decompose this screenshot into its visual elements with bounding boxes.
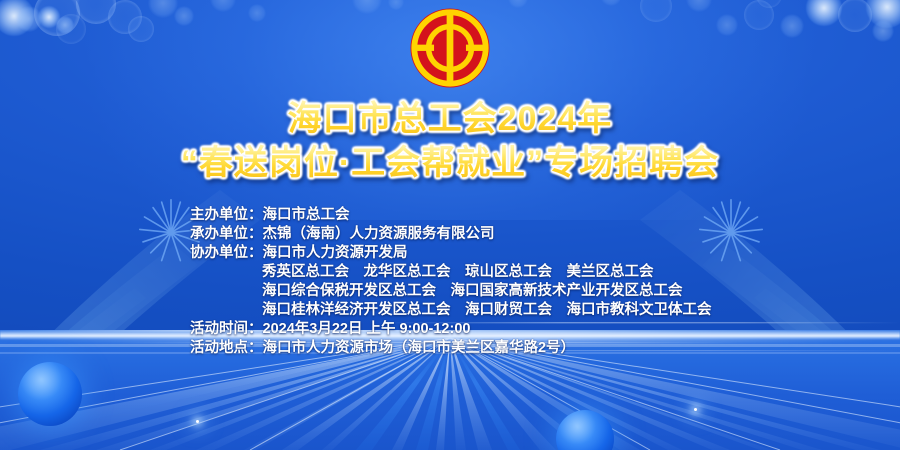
info-row: 活动时间：2024年3月22日 上午 9:00-12:00	[0, 320, 900, 339]
info-row-value: 海口市总工会	[263, 206, 350, 225]
info-row: 主办单位：海口市总工会	[0, 206, 900, 225]
info-row: 活动地点：海口市人力资源市场（海口市美兰区嘉华路2号）	[0, 339, 900, 358]
acftu-union-emblem	[408, 6, 492, 90]
info-row-label: 主办单位：	[190, 206, 263, 225]
info-row: 承办单位：杰锦（海南）人力资源服务有限公司	[0, 225, 900, 244]
info-row-value: 秀英区总工会 龙华区总工会 琼山区总工会 美兰区总工会	[262, 263, 654, 282]
info-row-value: 海口综合保税开发区总工会 海口国家高新技术产业开发区总工会	[262, 282, 683, 301]
info-row-value: 海口市人力资源开发局	[263, 244, 408, 263]
info-row-label: 活动地点：	[190, 339, 263, 358]
info-row-label: 承办单位：	[190, 225, 263, 244]
info-row-label: 协办单位：	[190, 244, 263, 263]
info-row-value: 2024年3月22日 上午 9:00-12:00	[263, 320, 471, 339]
info-row-value: 海口桂林洋经济开发区总工会 海口财贸工会 海口市教科文卫体工会	[262, 301, 712, 320]
title-line-1: 海口市总工会2024年	[0, 100, 900, 138]
info-row: 海口综合保税开发区总工会 海口国家高新技术产业开发区总工会	[0, 282, 900, 301]
title-line-2: “春送岗位·工会帮就业”专场招聘会	[0, 144, 900, 182]
info-row-label: 活动时间：	[190, 320, 263, 339]
info-row: 海口桂林洋经济开发区总工会 海口财贸工会 海口市教科文卫体工会	[0, 301, 900, 320]
info-row-value: 杰锦（海南）人力资源服务有限公司	[263, 225, 495, 244]
event-info-list: 主办单位：海口市总工会承办单位：杰锦（海南）人力资源服务有限公司协办单位：海口市…	[0, 206, 900, 358]
recruitment-banner: 海口市总工会2024年 “春送岗位·工会帮就业”专场招聘会 主办单位：海口市总工…	[0, 0, 900, 450]
banner-title-block: 海口市总工会2024年 “春送岗位·工会帮就业”专场招聘会	[0, 100, 900, 182]
info-row: 秀英区总工会 龙华区总工会 琼山区总工会 美兰区总工会	[0, 263, 900, 282]
info-row: 协办单位：海口市人力资源开发局	[0, 244, 900, 263]
info-row-value: 海口市人力资源市场（海口市美兰区嘉华路2号）	[263, 339, 576, 358]
union-emblem-icon	[408, 6, 492, 90]
